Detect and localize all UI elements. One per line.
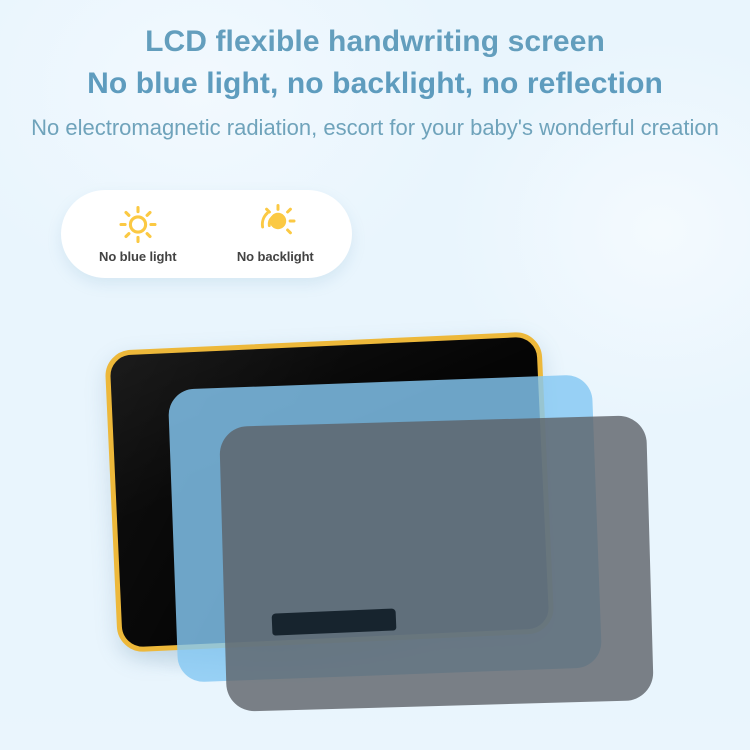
- page-bottom-fade: [0, 710, 750, 750]
- feature-label: No backlight: [237, 249, 314, 264]
- headline-secondary: No blue light, no backlight, no reflecti…: [0, 64, 750, 104]
- header-block: LCD flexible handwriting screen No blue …: [0, 22, 750, 144]
- feature-pill: No blue light No backlight: [61, 190, 352, 278]
- product-shadow: [112, 612, 442, 682]
- device-tab-nub: [272, 608, 397, 635]
- subheadline: No electromagnetic radiation, escort for…: [30, 113, 720, 144]
- blue-film-layer: [168, 374, 602, 682]
- grey-film-layer: [219, 415, 654, 712]
- feature-item-no-blue-light: No blue light: [73, 204, 203, 264]
- feature-label: No blue light: [99, 249, 176, 264]
- sun-outline-icon: [116, 204, 160, 244]
- sun-rays-icon: [253, 204, 297, 244]
- headline-primary: LCD flexible handwriting screen: [0, 22, 750, 62]
- lcd-tablet-device: [104, 331, 554, 653]
- product-poster: LCD flexible handwriting screen No blue …: [0, 0, 750, 750]
- screen-gloss: [110, 336, 550, 647]
- feature-item-no-backlight: No backlight: [210, 204, 340, 264]
